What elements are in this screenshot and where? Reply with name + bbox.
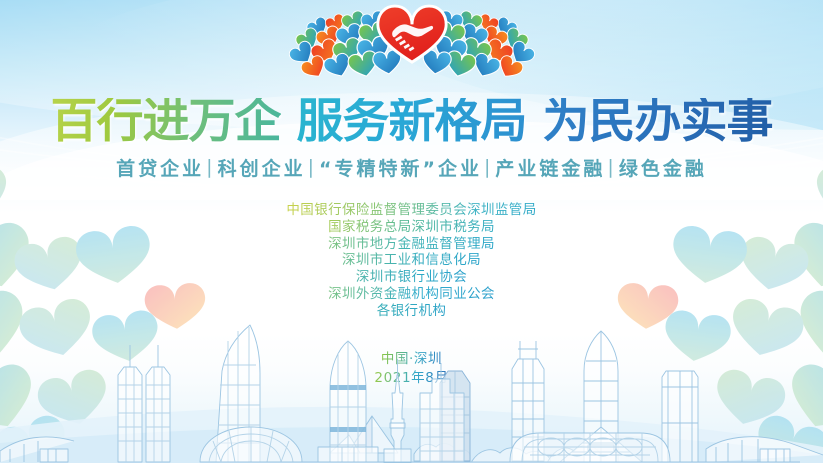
poster-canvas: 百行进万企 服务新格局 为民办实事 首贷企业 | 科创企业 | “专精特新”企业… xyxy=(0,0,823,463)
subtitle-item-5: 绿色金融 xyxy=(619,154,707,181)
subtitle-item-4: 产业链金融 xyxy=(495,154,605,181)
organizer-line: 各银行机构 xyxy=(377,303,447,320)
organizer-list: 中国银行保险监督管理委员会深圳监管局 国家税务总局深圳市税务局 深圳市地方金融监… xyxy=(0,202,823,320)
subtitle-separator-1: | xyxy=(204,156,217,178)
subtitle-item-2: 科创企业 xyxy=(218,154,306,181)
heart-handshake-wings-logo xyxy=(287,4,537,90)
organizer-line: 深圳外资金融机构同业公会 xyxy=(328,286,495,303)
headline-segment-2: 服务新格局 xyxy=(297,98,527,145)
subtitle-item-1: 首贷企业 xyxy=(116,154,204,181)
subtitle-separator-4: | xyxy=(605,156,618,178)
organizer-line: 中国银行保险监督管理委员会深圳监管局 xyxy=(286,202,536,219)
headline: 百行进万企 服务新格局 为民办实事 xyxy=(0,90,823,152)
subtitle-separator-3: | xyxy=(482,156,495,178)
logo-svg xyxy=(287,4,537,90)
subtitle-item-3: “专精特新”企业 xyxy=(319,154,482,181)
shenzhen-skyline-icon xyxy=(0,323,823,463)
headline-segment-3: 为民办实事 xyxy=(543,98,773,145)
skyline-svg xyxy=(0,323,823,463)
organizer-line: 国家税务总局深圳市税务局 xyxy=(328,219,495,236)
organizer-line: 深圳市工业和信息化局 xyxy=(342,252,481,269)
organizer-line: 深圳市银行业协会 xyxy=(356,269,467,286)
subtitle-separator-2: | xyxy=(306,156,319,178)
organizer-line: 深圳市地方金融监督管理局 xyxy=(328,236,495,253)
subtitle: 首贷企业 | 科创企业 | “专精特新”企业 | 产业链金融 | 绿色金融 xyxy=(0,153,823,181)
headline-segment-1: 百行进万企 xyxy=(51,98,281,145)
